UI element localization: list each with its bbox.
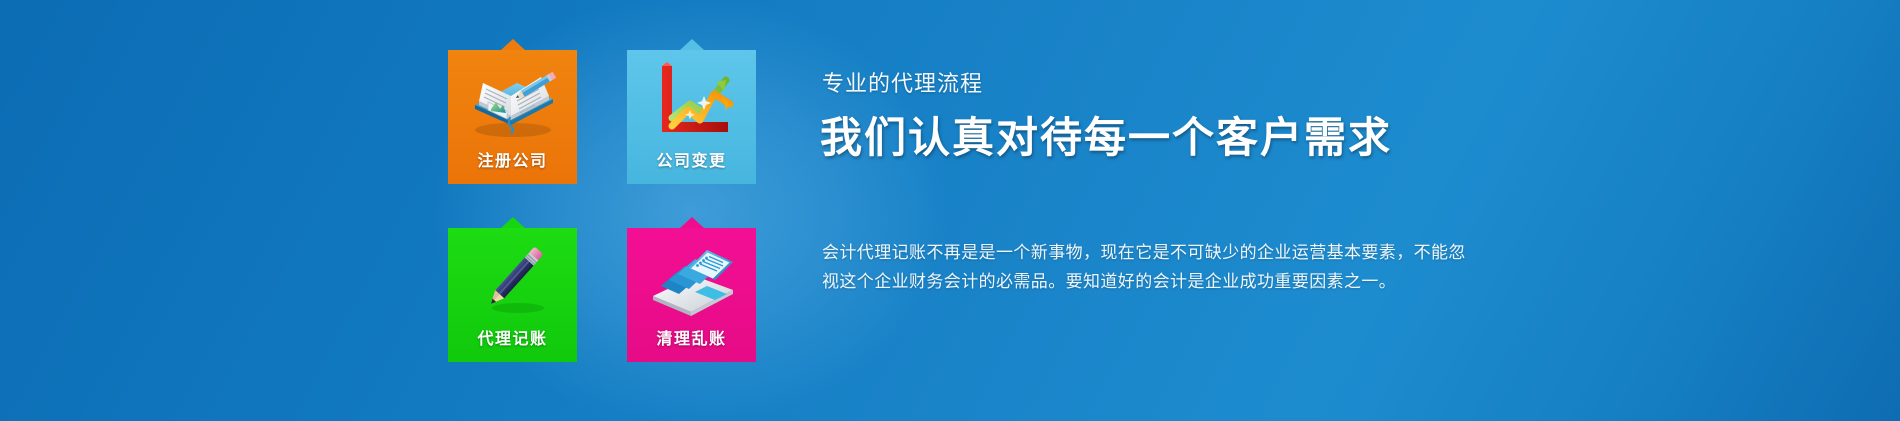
tile-label: 公司变更 [656, 147, 726, 184]
paragraph-text: 会计代理记账不再是是一个新事物，现在它是不可缺少的企业运营基本要素，不能忽视这个… [822, 238, 1482, 296]
pencil-icon [448, 236, 577, 322]
tile-label: 清理乱账 [656, 325, 726, 362]
tile-notch-icon [680, 39, 704, 50]
tile-notch-icon [501, 39, 525, 50]
tile-label: 代理记账 [477, 325, 547, 362]
document-stack-icon [627, 236, 756, 322]
tile-notch-icon [680, 217, 704, 228]
tile-cleanup-accounts[interactable]: 清理乱账 [627, 228, 756, 362]
growth-chart-arrow-icon [627, 58, 756, 144]
copy-block: 专业的代理流程 我们认真对待每一个客户需求 会计代理记账不再是是一个新事物，现在… [822, 0, 1522, 421]
tile-company-change[interactable]: 公司变更 [627, 50, 756, 184]
tile-notch-icon [501, 217, 525, 228]
promo-banner: 注册公司 [0, 0, 1900, 421]
open-book-pencil-icon [448, 58, 577, 144]
tile-label: 注册公司 [477, 147, 547, 184]
eyebrow-text: 专业的代理流程 [822, 66, 983, 98]
tile-register-company[interactable]: 注册公司 [448, 50, 577, 184]
headline-text: 我们认真对待每一个客户需求 [820, 104, 1392, 165]
tile-agency-bookkeeping[interactable]: 代理记账 [448, 228, 577, 362]
